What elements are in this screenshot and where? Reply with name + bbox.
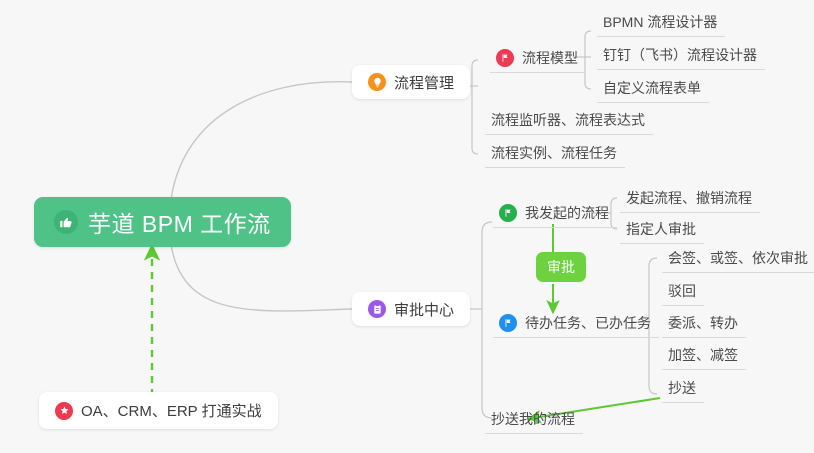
link-root-to-approval-center: [170, 236, 352, 311]
thumbs-up-icon: [54, 210, 78, 234]
node-add-remove-sign[interactable]: 加签、减签: [662, 340, 746, 370]
lightbulb-icon: [368, 73, 386, 91]
node-my-initiated-process[interactable]: 我发起的流程: [493, 198, 617, 228]
node-label: 流程模型: [522, 48, 578, 68]
link-root-to-process-management: [170, 82, 352, 208]
node-assignee-approval[interactable]: 指定人审批: [620, 214, 704, 244]
node-multi-sign-approval[interactable]: 会签、或签、依次审批: [662, 243, 814, 273]
link-pm-bracket: [472, 60, 478, 154]
mindmap-canvas: 芋道 BPM 工作流 流程管理 流程模型 BPMN 流程设计器 钉钉（飞书）流程…: [0, 0, 814, 453]
root-node[interactable]: 芋道 BPM 工作流: [34, 197, 291, 247]
footnote-label: OA、CRM、ERP 打通实战: [81, 400, 262, 421]
footnote-card[interactable]: OA、CRM、ERP 打通实战: [39, 392, 278, 429]
node-label: 我发起的流程: [525, 203, 609, 223]
node-label: 自定义流程表单: [603, 78, 701, 98]
branch-label: 审批中心: [394, 299, 454, 320]
clipboard-icon: [368, 300, 386, 318]
node-label: BPMN 流程设计器: [603, 12, 717, 32]
link-ac-bracket: [482, 222, 492, 418]
node-todo-done-task[interactable]: 待办任务、已办任务: [493, 308, 659, 338]
node-label: 驳回: [668, 281, 696, 301]
flag-icon: [499, 204, 517, 222]
node-listener-expression[interactable]: 流程监听器、流程表达式: [485, 105, 653, 135]
node-instance-task[interactable]: 流程实例、流程任务: [485, 138, 625, 168]
node-process-model[interactable]: 流程模型: [490, 43, 586, 73]
node-custom-process-form[interactable]: 自定义流程表单: [597, 73, 709, 103]
node-start-cancel-process[interactable]: 发起流程、撤销流程: [620, 183, 760, 213]
branch-process-management[interactable]: 流程管理: [352, 65, 470, 99]
approval-badge[interactable]: 审批: [536, 252, 586, 282]
node-label: 加签、减签: [668, 345, 738, 365]
node-label: 流程实例、流程任务: [491, 143, 617, 163]
node-bpmn-designer[interactable]: BPMN 流程设计器: [597, 7, 725, 37]
branch-label: 流程管理: [394, 72, 454, 93]
node-label: 委派、转办: [668, 313, 738, 333]
node-dingtalk-feishu-designer[interactable]: 钉钉（飞书）流程设计器: [597, 40, 765, 70]
node-label: 钉钉（飞书）流程设计器: [603, 45, 757, 65]
node-label: 会签、或签、依次审批: [668, 248, 808, 268]
node-label: 流程监听器、流程表达式: [491, 110, 645, 130]
star-icon: [55, 402, 73, 420]
root-label: 芋道 BPM 工作流: [88, 205, 271, 239]
node-label: 待办任务、已办任务: [525, 313, 651, 333]
badge-label: 审批: [547, 257, 575, 277]
node-cc[interactable]: 抄送: [662, 373, 704, 403]
flag-icon: [499, 314, 517, 332]
node-label: 抄送: [668, 378, 696, 398]
node-label: 发起流程、撤销流程: [626, 188, 752, 208]
flag-icon: [496, 49, 514, 67]
node-delegate-transfer[interactable]: 委派、转办: [662, 308, 746, 338]
node-cc-my-process[interactable]: 抄送我的流程: [485, 404, 583, 434]
node-label: 指定人审批: [626, 219, 696, 239]
node-label: 抄送我的流程: [491, 409, 575, 429]
node-reject[interactable]: 驳回: [662, 276, 704, 306]
branch-approval-center[interactable]: 审批中心: [352, 292, 470, 326]
